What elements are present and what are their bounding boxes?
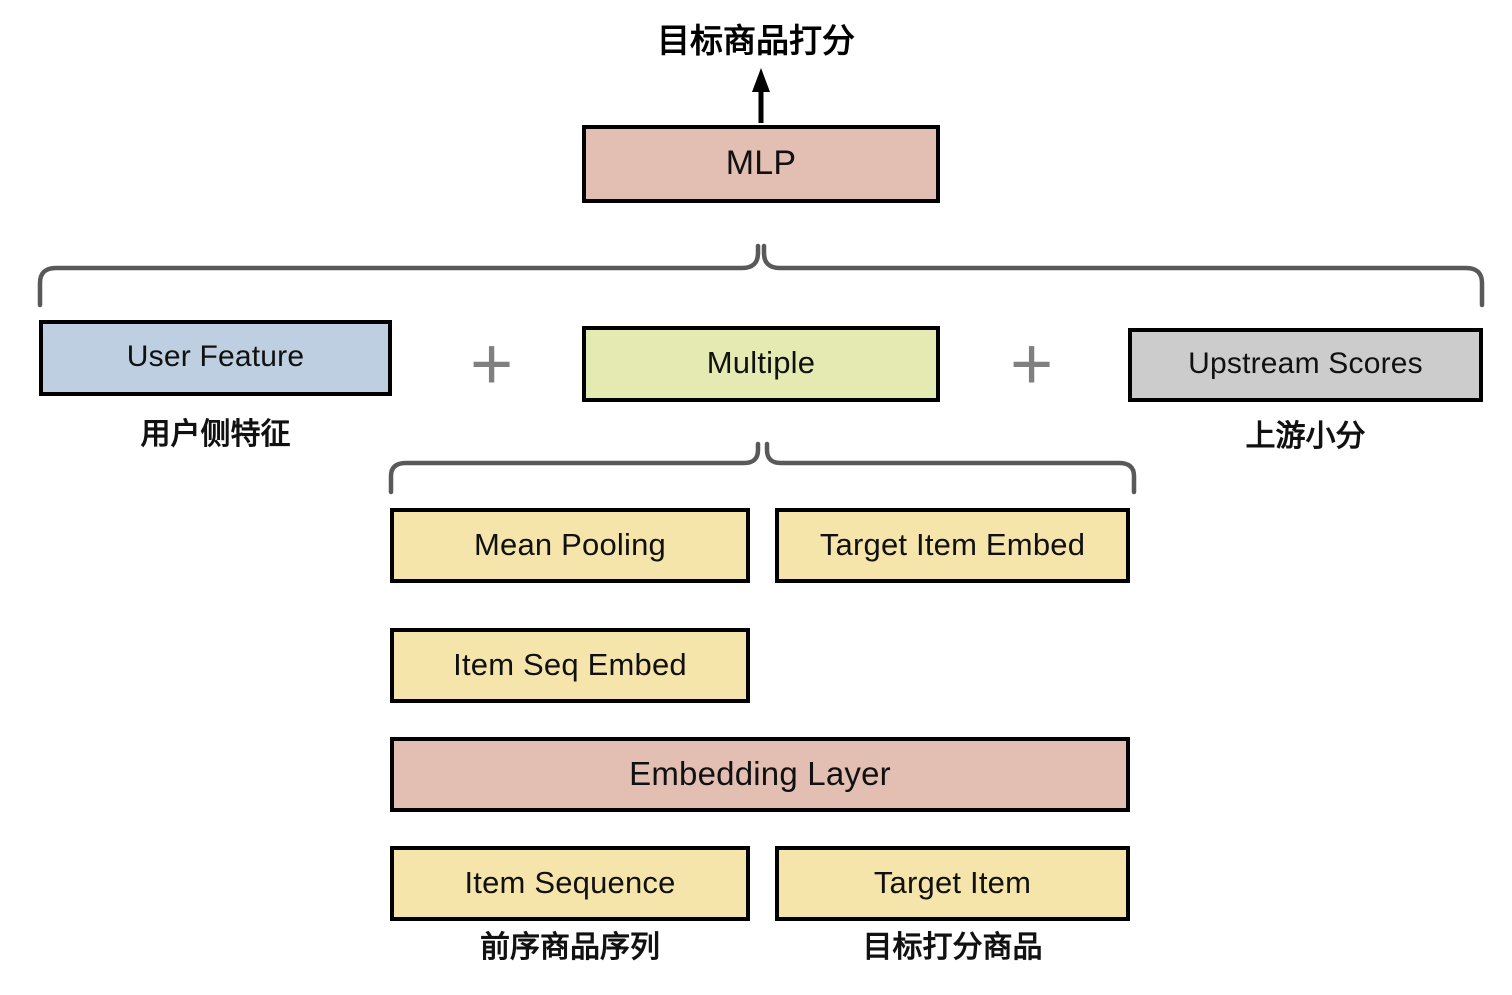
node-mlp-label: MLP [726, 146, 797, 183]
node-mlp[interactable]: MLP [582, 125, 940, 203]
node-upstream-scores-label: Upstream Scores [1188, 349, 1423, 382]
node-mean-pooling-label: Mean Pooling [474, 529, 666, 563]
diagram-canvas: 目标商品打分 MLP User Feature + Multiple + Ups… [0, 0, 1512, 995]
node-embedding-layer[interactable]: Embedding Layer [390, 737, 1130, 812]
output-score-title: 目标商品打分 [0, 24, 1512, 57]
node-user-feature[interactable]: User Feature [39, 320, 392, 396]
node-upstream-scores[interactable]: Upstream Scores [1128, 328, 1483, 402]
caption-upstream-scores: 上游小分 [1128, 422, 1483, 452]
node-item-seq-embed-label: Item Seq Embed [453, 649, 687, 683]
node-item-sequence-label: Item Sequence [464, 867, 675, 901]
node-target-item-label: Target Item [874, 867, 1031, 901]
plus-operator-2: + [1010, 327, 1053, 401]
caption-target-item: 目标打分商品 [775, 933, 1130, 963]
caption-item-sequence: 前序商品序列 [390, 933, 750, 963]
node-item-sequence[interactable]: Item Sequence [390, 846, 750, 921]
node-user-feature-label: User Feature [127, 342, 304, 375]
node-mean-pooling[interactable]: Mean Pooling [390, 508, 750, 583]
caption-user-feature: 用户侧特征 [39, 420, 392, 450]
brace-inner [391, 444, 1134, 492]
arrow-mlp-to-score [752, 68, 770, 123]
plus-operator-1: + [470, 327, 513, 401]
node-target-item-embed[interactable]: Target Item Embed [775, 508, 1130, 583]
node-embedding-layer-label: Embedding Layer [629, 757, 891, 793]
node-multiple[interactable]: Multiple [582, 326, 940, 402]
node-item-seq-embed[interactable]: Item Seq Embed [390, 628, 750, 703]
node-target-item-embed-label: Target Item Embed [820, 529, 1085, 563]
brace-outer [40, 246, 1482, 305]
node-multiple-label: Multiple [707, 347, 815, 381]
node-target-item[interactable]: Target Item [775, 846, 1130, 921]
